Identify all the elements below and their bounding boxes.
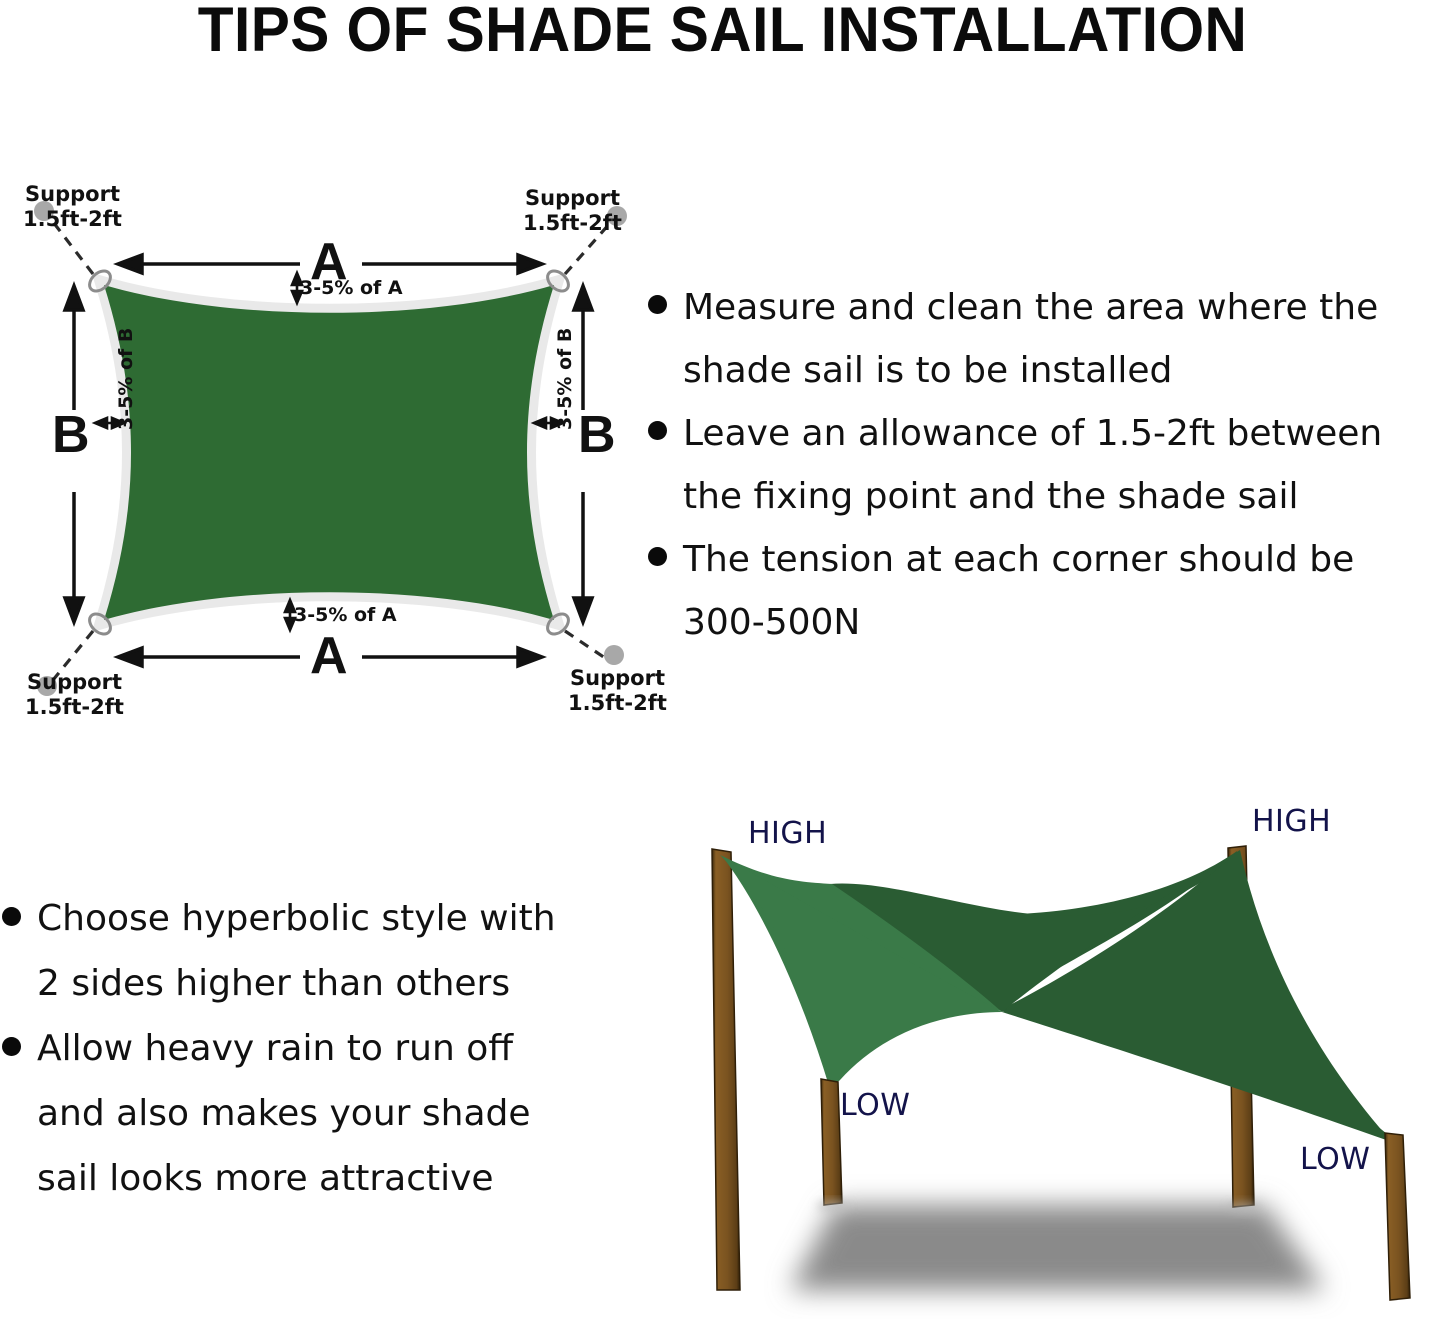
ground-shadow: [790, 1205, 1325, 1290]
post-bottom-left: [821, 1079, 842, 1205]
infographic-page: TIPS OF SHADE SAIL INSTALLATION: [0, 0, 1445, 1319]
post-label-low-left: LOW: [840, 1088, 910, 1123]
post-top-left: [712, 849, 740, 1290]
post-bottom-right: [1385, 1133, 1410, 1300]
post-label-low-right: LOW: [1300, 1142, 1370, 1177]
post-label-high-left: HIGH: [748, 816, 827, 851]
post-label-high-right: HIGH: [1252, 804, 1331, 839]
hyperbolic-sail-illustration-svg: [0, 0, 1445, 1319]
